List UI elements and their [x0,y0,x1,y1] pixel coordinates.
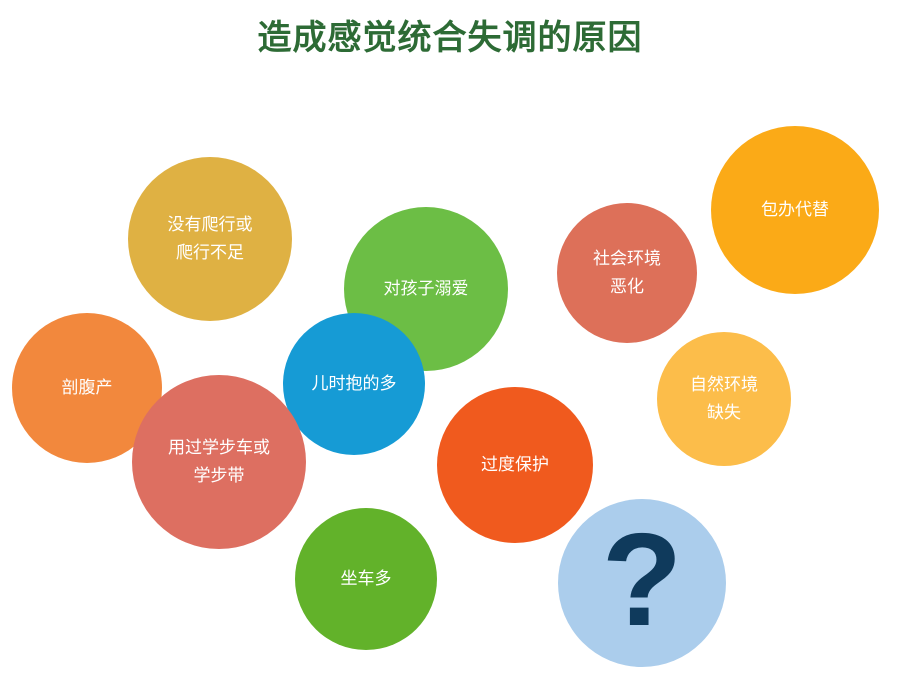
bubble-label-lack-of-nature: 自然环境 缺失 [682,371,766,427]
bubble-label-spoiling-child: 对孩子溺爱 [376,275,477,303]
bubble-label-doing-everything-for-child: 包办代替 [753,196,837,224]
slide-canvas: 造成感觉统合失调的原因 没有爬行或 爬行不足 对孩子溺爱 儿时抱的多 剖腹产 用… [0,0,900,678]
bubble-no-crawling[interactable]: 没有爬行或 爬行不足 [128,157,292,321]
bubble-lack-of-nature[interactable]: 自然环境 缺失 [657,332,791,466]
bubble-label-riding-in-car: 坐车多 [333,565,400,593]
bubble-label-no-crawling: 没有爬行或 爬行不足 [160,211,261,267]
bubble-doing-everything-for-child[interactable]: 包办代替 [711,126,879,294]
bubble-label-baby-walker: 用过学步车或 学步带 [160,434,278,490]
bubble-label-cesarean-section: 剖腹产 [54,374,121,402]
bubble-social-environment[interactable]: 社会环境 恶化 [557,203,697,343]
question-mark-icon: ? [602,514,683,646]
bubble-riding-in-car[interactable]: 坐车多 [295,508,437,650]
bubble-label-held-often: 儿时抱的多 [304,370,405,398]
bubble-question-mark[interactable]: ? [558,499,726,667]
bubble-held-often[interactable]: 儿时抱的多 [283,313,425,455]
bubble-label-overprotection: 过度保护 [473,451,557,479]
bubble-overprotection[interactable]: 过度保护 [437,387,593,543]
bubble-label-social-environment: 社会环境 恶化 [585,245,669,301]
page-title: 造成感觉统合失调的原因 [0,16,900,60]
bubble-baby-walker[interactable]: 用过学步车或 学步带 [132,375,306,549]
